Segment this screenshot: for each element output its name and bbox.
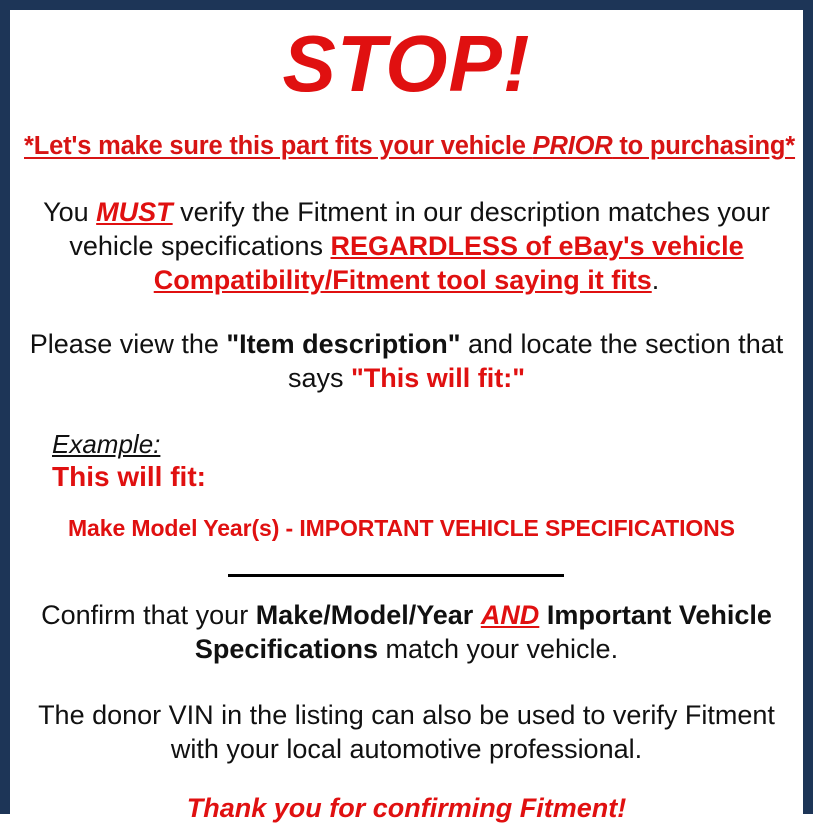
emphasis-must: MUST [96, 197, 173, 227]
emphasis-make-model-year: Make/Model/Year [256, 600, 474, 630]
para3-segment-1: Confirm that your [41, 600, 256, 630]
paragraph-verify-fitment: You MUST verify the Fitment in our descr… [24, 195, 789, 297]
banner-suffix: to purchasing* [612, 132, 795, 160]
example-spec-line: Make Model Year(s) - IMPORTANT VEHICLE S… [68, 515, 789, 542]
para3-segment-2: match your vehicle. [378, 634, 618, 664]
example-label: Example: [52, 429, 789, 459]
example-block: Example: This will fit: Make Model Year(… [24, 429, 789, 542]
banner-prefix: *Let's make sure this part fits your veh… [24, 132, 533, 160]
emphasis-item-description: "Item description" [226, 329, 460, 359]
emphasis-and: AND [481, 600, 540, 630]
paragraph-confirm: Confirm that your Make/Model/Year AND Im… [24, 598, 789, 666]
page-title: STOP! [24, 24, 789, 104]
closing-thank-you: Thank you for confirming Fitment! [24, 792, 789, 824]
fitment-notice-card: STOP! *Let's make sure this part fits yo… [0, 0, 813, 814]
divider-wrapper [24, 566, 789, 580]
section-divider [228, 574, 564, 577]
para1-segment-3: . [652, 265, 660, 295]
para2-segment-1: Please view the [30, 329, 227, 359]
fitment-banner: *Let's make sure this part fits your veh… [24, 132, 789, 161]
notice-content: STOP! *Let's make sure this part fits yo… [10, 24, 803, 818]
para1-segment-1: You [43, 197, 96, 227]
banner-emphasis: PRIOR [533, 132, 613, 160]
example-fit-heading: This will fit: [52, 461, 789, 493]
emphasis-this-will-fit: "This will fit:" [351, 363, 525, 393]
paragraph-item-description: Please view the "Item description" and l… [24, 327, 789, 395]
paragraph-donor-vin: The donor VIN in the listing can also be… [24, 698, 789, 766]
